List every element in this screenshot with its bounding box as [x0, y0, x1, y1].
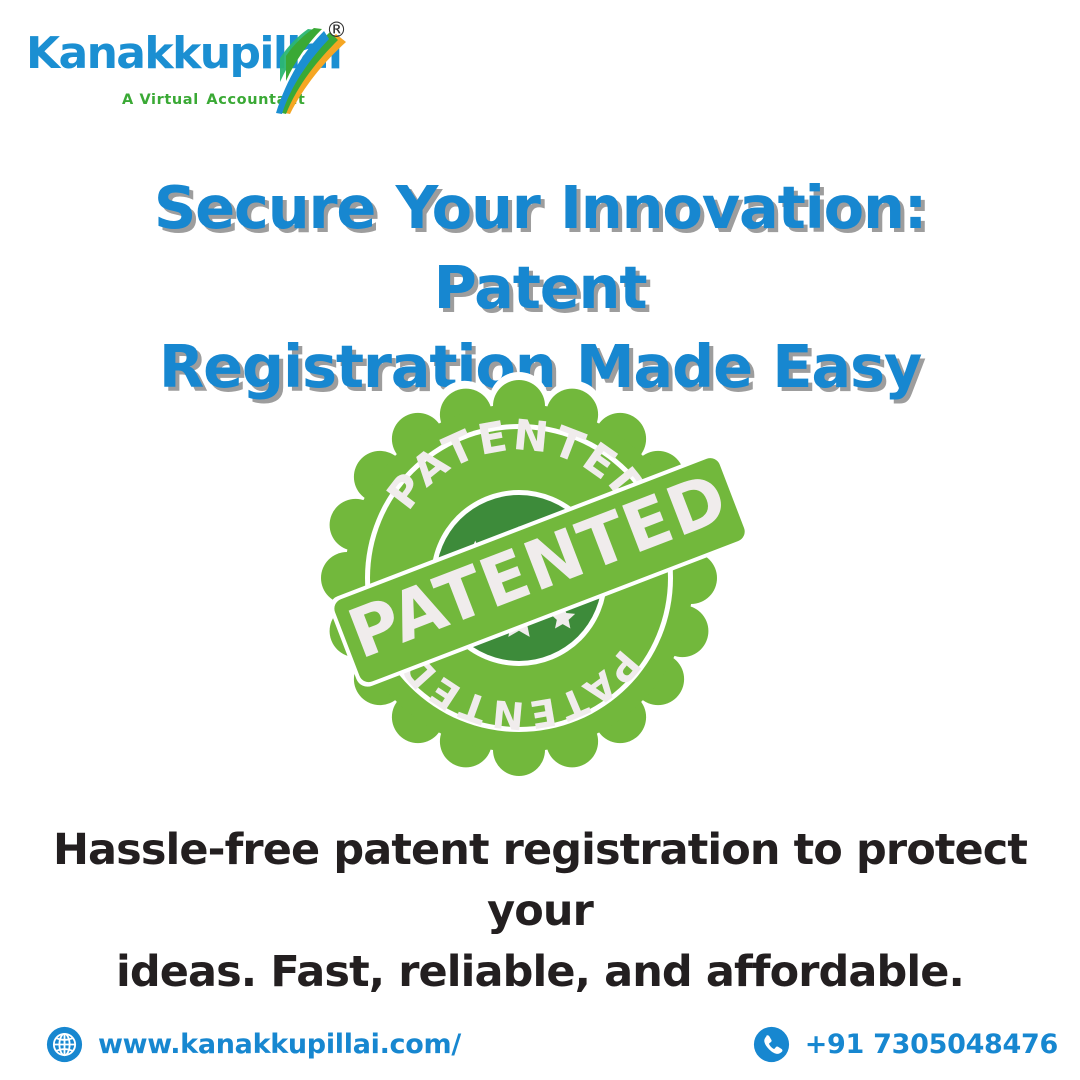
website-label: www.kanakkupillai.com/ — [98, 1029, 461, 1060]
patented-badge: PATENTED PATENTED PATENTED — [313, 372, 763, 784]
phone-link[interactable]: +91 7305048476 — [753, 1022, 1058, 1066]
phone-icon — [753, 1026, 790, 1063]
website-link[interactable]: www.kanakkupillai.com/ — [46, 1022, 461, 1066]
registered-trademark-symbol: ® — [326, 20, 347, 41]
subheading-line-1: Hassle-free patent registration to prote… — [40, 820, 1040, 942]
subheading-line-2: ideas. Fast, reliable, and affordable. — [40, 942, 1040, 1003]
brand-logo[interactable]: Kanakkupillai A Virtual Accountant ® — [26, 14, 356, 114]
poster-canvas: Kanakkupillai A Virtual Accountant ® Sec… — [0, 0, 1080, 1080]
patented-badge-graphic: PATENTED PATENTED PATENTED — [313, 372, 763, 784]
brand-tagline-part1: A Virtual — [122, 92, 204, 108]
globe-icon — [46, 1026, 83, 1063]
footer-bar: www.kanakkupillai.com/ +91 7305048476 — [0, 1016, 1080, 1080]
headline-line-1: Secure Your Innovation: Patent — [50, 168, 1030, 327]
phone-label: +91 7305048476 — [805, 1029, 1058, 1060]
subheading: Hassle-free patent registration to prote… — [40, 820, 1040, 1003]
